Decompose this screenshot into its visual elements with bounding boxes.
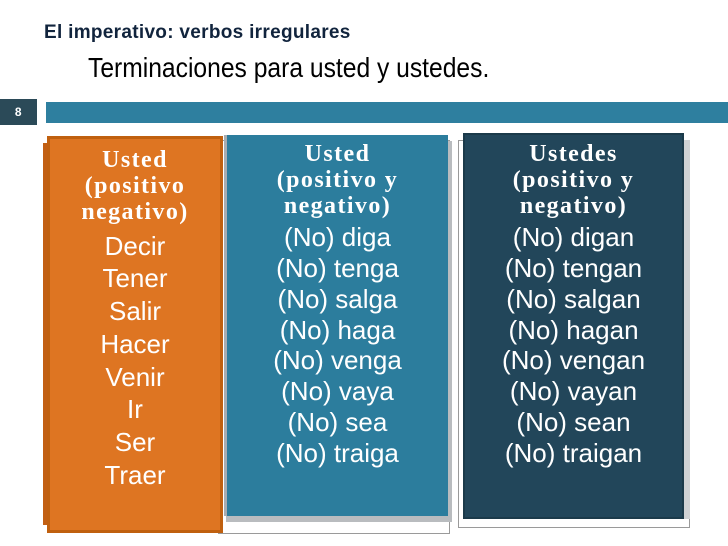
- column-heading-line-3: negativo): [513, 194, 634, 220]
- list-item: (No) hagan: [502, 315, 645, 346]
- column-heading-line-3: negativo): [81, 200, 188, 226]
- list-item: (No) venga: [273, 345, 402, 376]
- page-number-badge: 8: [0, 99, 37, 125]
- column-heading-line-2: (positivo: [81, 174, 188, 200]
- slide-canvas: El imperativo: verbos irregulares Termin…: [0, 0, 728, 546]
- list-item: (No) tengan: [502, 253, 645, 284]
- list-item: (No) sean: [502, 407, 645, 438]
- list-item: (No) salga: [273, 284, 402, 315]
- list-item: Ser: [100, 426, 169, 459]
- list-item: (No) traigan: [502, 438, 645, 469]
- column-heading-line-2: (positivo y: [277, 168, 398, 194]
- list-item: (No) vaya: [273, 376, 402, 407]
- list-item: (No) digan: [502, 222, 645, 253]
- column-heading-line-1: Usted: [81, 148, 188, 174]
- header-accent-bar: [46, 102, 728, 123]
- list-item: (No) traiga: [273, 438, 402, 469]
- list-item: (No) diga: [273, 222, 402, 253]
- slide-subtitle: Terminaciones para usted y ustedes.: [88, 52, 489, 84]
- list-item: Hacer: [100, 328, 169, 361]
- column-heading-line-1: Usted: [277, 142, 398, 168]
- list-item: Traer: [100, 459, 169, 492]
- slide-title: El imperativo: verbos irregulares: [44, 22, 351, 44]
- column-heading: Ustedes (positivo y negativo): [513, 142, 634, 220]
- column-heading: Usted (positivo negativo): [81, 148, 188, 226]
- list-item: (No) salgan: [502, 284, 645, 315]
- column-ustedes: Ustedes (positivo y negativo) (No) digan…: [463, 133, 684, 519]
- column-usted-positivo-negativo: Usted (positivo negativo) Decir Tener Sa…: [47, 136, 223, 533]
- list-item: (No) vengan: [502, 345, 645, 376]
- list-item: Salir: [100, 295, 169, 328]
- list-item: (No) haga: [273, 315, 402, 346]
- list-item: Ir: [100, 393, 169, 426]
- list-item: Tener: [100, 262, 169, 295]
- list-item: (No) sea: [273, 407, 402, 438]
- list-item: (No) tenga: [273, 253, 402, 284]
- column-heading: Usted (positivo y negativo): [277, 142, 398, 220]
- form-list-usted: (No) diga (No) tenga (No) salga (No) hag…: [273, 222, 402, 470]
- list-item: Venir: [100, 361, 169, 394]
- form-list-ustedes: (No) digan (No) tengan (No) salgan (No) …: [502, 222, 645, 470]
- column-heading-line-1: Ustedes: [513, 142, 634, 168]
- column-heading-line-2: (positivo y: [513, 168, 634, 194]
- column-usted: Usted (positivo y negativo) (No) diga (N…: [224, 135, 448, 516]
- verb-list-usted-pos-neg: Decir Tener Salir Hacer Venir Ir Ser Tra…: [100, 230, 169, 492]
- list-item: (No) vayan: [502, 376, 645, 407]
- column-heading-line-3: negativo): [277, 194, 398, 220]
- list-item: Decir: [100, 230, 169, 263]
